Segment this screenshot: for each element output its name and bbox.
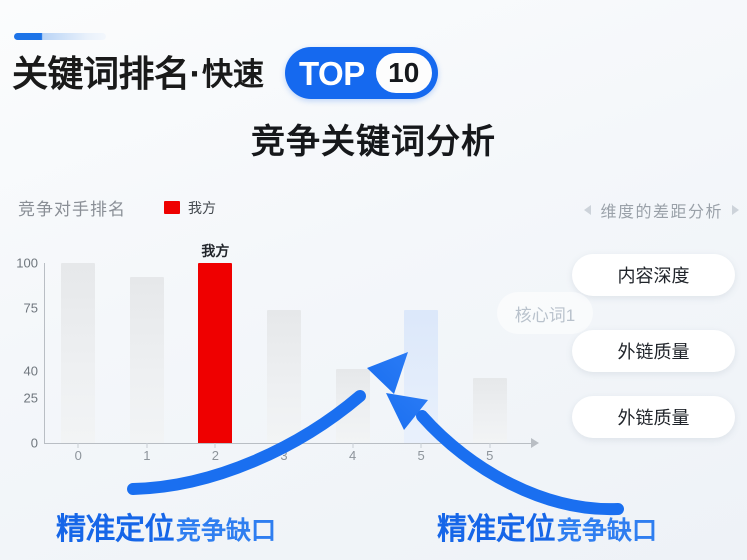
right-panel-title: 维度的差距分析 [600,198,723,222]
bar-highlight[interactable] [198,263,232,443]
y-axis-line [44,263,45,443]
right-panel-header: 维度的差距分析 [584,198,739,222]
dimension-pill-ghost[interactable]: 核心词1 [497,292,593,334]
top-badge-number: 10 [388,59,419,87]
top-badge[interactable]: TOP 10 [285,47,438,99]
bar[interactable] [61,263,95,443]
headline-fast-text: 快速 [202,59,264,90]
legend-label: 我方 [188,198,216,218]
caption-left-soft: 竞争缺口 [176,511,276,547]
headline-main-text: 关键词排名· [12,56,201,92]
x-axis-line [44,443,534,444]
caption-right-strong: 精准定位 [437,504,555,548]
bar[interactable] [336,369,370,443]
progress-accent-bar [14,33,106,40]
bar[interactable] [473,378,507,443]
dimension-pill[interactable]: 外链质量 [572,396,735,438]
legend-swatch-icon [164,201,180,214]
bar-highlight-label: 我方 [201,241,229,261]
caption-left-strong: 精准定位 [56,504,174,548]
bar[interactable] [267,310,301,443]
x-tick-label: 5 [418,448,425,463]
top-badge-word: TOP [299,57,365,90]
dimension-pill[interactable]: 内容深度 [572,254,735,296]
x-tick-label: 2 [212,448,219,463]
caption-right-soft: 竞争缺口 [557,511,657,547]
x-tick-label: 3 [280,448,287,463]
y-axis-ticks: 1007540250 [0,245,38,460]
x-tick-label: 0 [75,448,82,463]
triangle-right-icon[interactable] [732,205,739,215]
headline: 关键词排名· 快速 [12,48,264,100]
chart-header: 竞争对手排名 我方 [18,195,216,220]
top-badge-number-chip: 10 [376,53,432,93]
triangle-left-icon[interactable] [584,205,591,215]
page-title: 竞争关键词分析 [0,114,747,163]
chart-legend: 我方 [164,198,216,218]
x-tick-label: 1 [143,448,150,463]
bar-chart: 1007540250 我方 0123455 [0,245,540,460]
slide-canvas: 关键词排名· 快速 TOP 10 竞争关键词分析 竞争对手排名 我方 维度的差距… [0,0,747,560]
x-tick-label: 5 [486,448,493,463]
dimension-pill[interactable]: 外链质量 [572,330,735,372]
bar[interactable] [404,310,438,443]
y-tick-label: 0 [4,436,38,451]
chart-title: 竞争对手排名 [18,195,126,220]
x-tick-label: 4 [349,448,356,463]
y-tick-label: 25 [4,391,38,406]
bar[interactable] [130,277,164,443]
y-tick-label: 40 [4,364,38,379]
y-tick-label: 75 [4,301,38,316]
x-axis-arrow-icon [531,438,539,448]
y-tick-label: 100 [4,256,38,271]
caption-right: 精准定位 竞争缺口 [437,504,657,548]
caption-left: 精准定位 竞争缺口 [56,504,276,548]
